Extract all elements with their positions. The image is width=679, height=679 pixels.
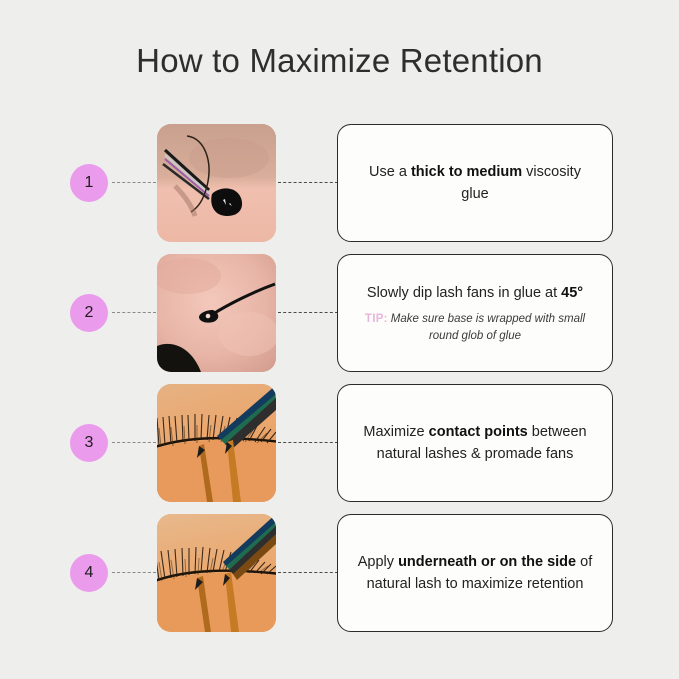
infographic-root: How to Maximize Retention 1: [0, 0, 679, 679]
steps-list: 1: [0, 124, 679, 644]
connector-badge-to-photo: [112, 442, 156, 443]
step-number-badge: 1: [70, 164, 108, 202]
card-text-emphasis: underneath or on the side: [398, 554, 576, 570]
connector-badge-to-photo: [112, 312, 156, 313]
card-text-part: Slowly dip lash fans in glue at: [367, 285, 561, 301]
step-photo-4: [157, 514, 276, 632]
card-text-emphasis: contact points: [429, 424, 528, 440]
connector-badge-to-photo: [112, 572, 156, 573]
tip-text: Make sure base is wrapped with small rou…: [391, 313, 585, 342]
step-row: 1: [0, 124, 679, 242]
step-photo-2: [157, 254, 276, 372]
tip-label: TIP:: [365, 313, 388, 325]
card-text-emphasis: 45°: [561, 285, 583, 301]
step-card-3: Maximize contact points between natural …: [337, 384, 613, 502]
step-card-tip: TIP:Make sure base is wrapped with small…: [354, 311, 596, 344]
step-row: 3: [0, 384, 679, 502]
step-number-badge: 3: [70, 424, 108, 462]
connector-photo-to-card: [278, 442, 338, 443]
step-card-1: Use a thick to medium viscosity glue: [337, 124, 613, 242]
card-text-part: Maximize: [363, 424, 428, 440]
connector-photo-to-card: [278, 572, 338, 573]
step-card-2: Slowly dip lash fans in glue at 45° TIP:…: [337, 254, 613, 372]
step-row: 4: [0, 514, 679, 632]
step-card-text: Apply underneath or on the side of natur…: [354, 551, 596, 595]
step-card-text: Use a thick to medium viscosity glue: [354, 161, 596, 205]
step-number-badge: 4: [70, 554, 108, 592]
step-photo-1: [157, 124, 276, 242]
step-card-4: Apply underneath or on the side of natur…: [337, 514, 613, 632]
page-title: How to Maximize Retention: [0, 42, 679, 80]
card-text-part: Use a: [369, 164, 411, 180]
card-text-part: Apply: [358, 554, 398, 570]
connector-badge-to-photo: [112, 182, 156, 183]
step-card-text: Slowly dip lash fans in glue at 45°: [367, 282, 583, 304]
connector-photo-to-card: [278, 312, 338, 313]
connector-photo-to-card: [278, 182, 338, 183]
card-text-emphasis: thick to medium: [411, 164, 522, 180]
step-photo-3: [157, 384, 276, 502]
step-number-badge: 2: [70, 294, 108, 332]
step-card-text: Maximize contact points between natural …: [354, 421, 596, 465]
step-row: 2: [0, 254, 679, 372]
